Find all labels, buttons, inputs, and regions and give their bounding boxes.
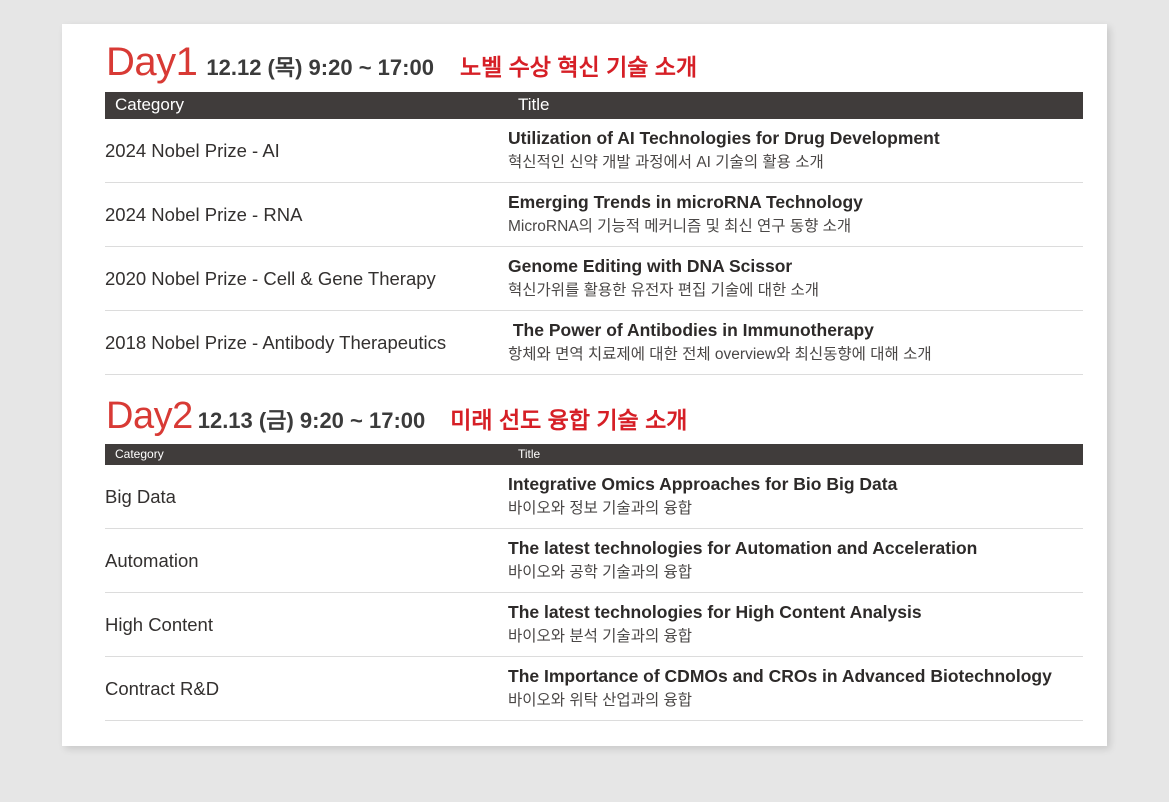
day2-label: Day2 (106, 397, 193, 435)
column-header-title: Title (508, 92, 1083, 119)
row-title-ko: 혁신적인 신약 개발 과정에서 AI 기술의 활용 소개 (508, 152, 1083, 174)
row-title: The Power of Antibodies in Immunotherapy… (508, 311, 1083, 375)
column-header-title: Title (508, 444, 1083, 465)
table-row: Automation The latest technologies for A… (105, 529, 1083, 593)
table-header-row: Category Title (105, 92, 1083, 119)
day1-schedule-table: Category Title 2024 Nobel Prize - AI Uti… (105, 92, 1083, 375)
day2-date: 12.13 (금) 9:20 ~ 17:00 (198, 403, 426, 435)
row-title-ko: 바이오와 분석 기술과의 융합 (508, 626, 1083, 648)
table-row: 2020 Nobel Prize - Cell & Gene Therapy G… (105, 247, 1083, 311)
row-title: Utilization of AI Technologies for Drug … (508, 119, 1083, 183)
column-header-category: Category (105, 92, 508, 119)
day2-theme: 미래 선도 융합 기술 소개 (450, 401, 687, 435)
table-row: 2018 Nobel Prize - Antibody Therapeutics… (105, 311, 1083, 375)
table-row: 2024 Nobel Prize - AI Utilization of AI … (105, 119, 1083, 183)
row-title-en: The latest technologies for Automation a… (508, 536, 1083, 561)
row-title-en: Utilization of AI Technologies for Drug … (508, 126, 1083, 151)
row-title-en: Integrative Omics Approaches for Bio Big… (508, 472, 1083, 497)
row-title-en: The Importance of CDMOs and CROs in Adva… (508, 664, 1083, 689)
day1-heading: Day1 12.12 (목) 9:20 ~ 17:00 노벨 수상 혁신 기술 … (106, 42, 1083, 82)
table-row: High Content The latest technologies for… (105, 593, 1083, 657)
row-title-ko: MicroRNA의 기능적 메커니즘 및 최신 연구 동향 소개 (508, 216, 1083, 238)
row-title: The Importance of CDMOs and CROs in Adva… (508, 657, 1083, 721)
day1-date: 12.12 (목) 9:20 ~ 17:00 (206, 50, 434, 82)
day2-heading: Day2 12.13 (금) 9:20 ~ 17:00 미래 선도 융합 기술 … (106, 397, 1083, 435)
row-category: 2020 Nobel Prize - Cell & Gene Therapy (105, 247, 508, 311)
table-row: Big Data Integrative Omics Approaches fo… (105, 465, 1083, 529)
row-title: The latest technologies for High Content… (508, 593, 1083, 657)
row-title-ko: 항체와 면역 치료제에 대한 전체 overview와 최신동향에 대해 소개 (508, 344, 1083, 366)
day1-label: Day1 (106, 42, 197, 82)
row-category: Contract R&D (105, 657, 508, 721)
day1-theme: 노벨 수상 혁신 기술 소개 (460, 48, 697, 82)
column-header-category: Category (105, 444, 508, 465)
row-title: Genome Editing with DNA Scissor 혁신가위를 활용… (508, 247, 1083, 311)
table-header-row: Category Title (105, 444, 1083, 465)
row-title-ko: 바이오와 공학 기술과의 융합 (508, 562, 1083, 584)
row-category: 2024 Nobel Prize - RNA (105, 183, 508, 247)
slide-card: Day1 12.12 (목) 9:20 ~ 17:00 노벨 수상 혁신 기술 … (62, 24, 1107, 746)
row-title-ko: 바이오와 위탁 산업과의 융합 (508, 690, 1083, 712)
row-category: High Content (105, 593, 508, 657)
row-title: Integrative Omics Approaches for Bio Big… (508, 465, 1083, 529)
day2-schedule-table: Category Title Big Data Integrative Omic… (105, 444, 1083, 721)
row-title: Emerging Trends in microRNA Technology M… (508, 183, 1083, 247)
table-row: Contract R&D The Importance of CDMOs and… (105, 657, 1083, 721)
row-category: Big Data (105, 465, 508, 529)
table-row: 2024 Nobel Prize - RNA Emerging Trends i… (105, 183, 1083, 247)
row-category: 2024 Nobel Prize - AI (105, 119, 508, 183)
row-title-en: The latest technologies for High Content… (508, 600, 1083, 625)
row-title: The latest technologies for Automation a… (508, 529, 1083, 593)
row-title-en: The Power of Antibodies in Immunotherapy (508, 318, 1083, 343)
row-title-en: Emerging Trends in microRNA Technology (508, 190, 1083, 215)
row-title-ko: 혁신가위를 활용한 유전자 편집 기술에 대한 소개 (508, 280, 1083, 302)
day2-block: Day2 12.13 (금) 9:20 ~ 17:00 미래 선도 융합 기술 … (105, 397, 1083, 721)
row-category: Automation (105, 529, 508, 593)
row-title-ko: 바이오와 정보 기술과의 융합 (508, 498, 1083, 520)
row-title-en: Genome Editing with DNA Scissor (508, 254, 1083, 279)
row-category: 2018 Nobel Prize - Antibody Therapeutics (105, 311, 508, 375)
day1-block: Day1 12.12 (목) 9:20 ~ 17:00 노벨 수상 혁신 기술 … (105, 42, 1083, 375)
